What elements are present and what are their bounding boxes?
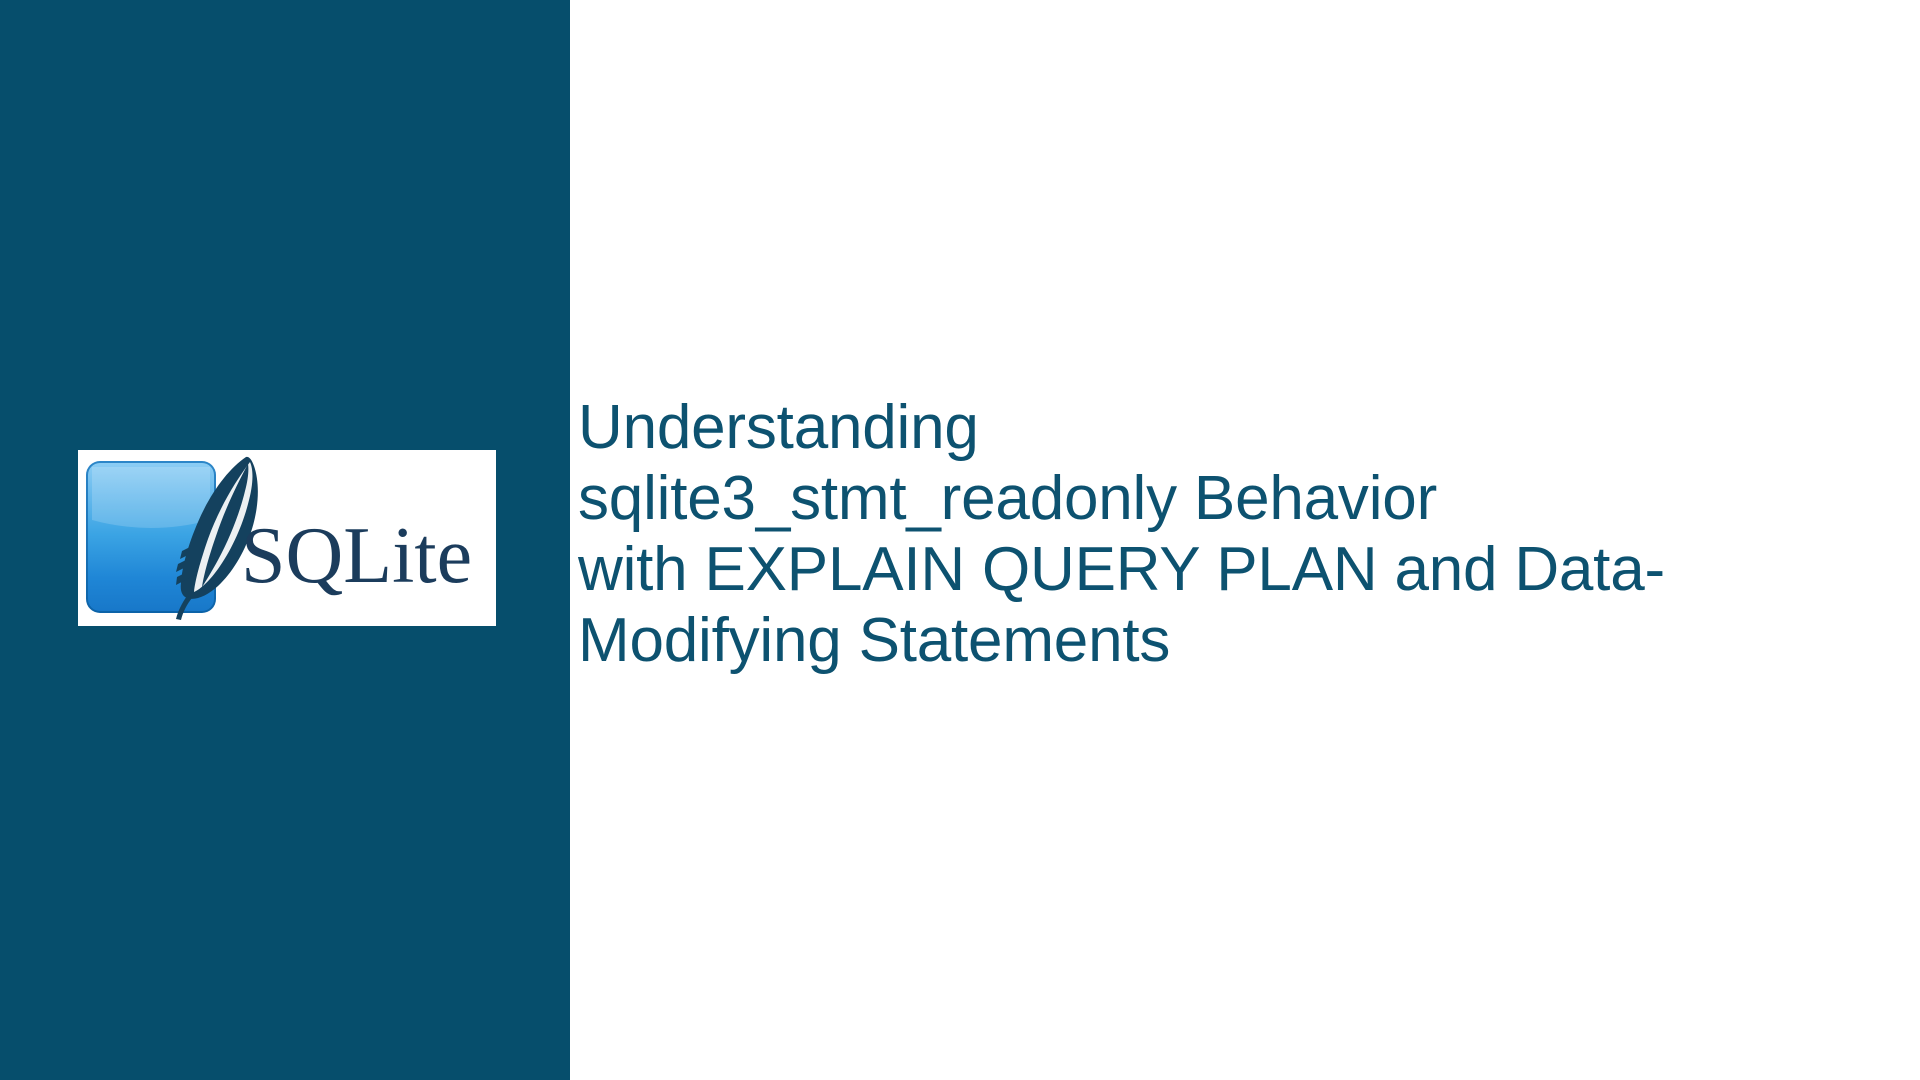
title-line-1: Understanding xyxy=(578,392,1920,463)
title-line-4: Modifying Statements xyxy=(578,605,1920,676)
logo-wordmark: SQLite xyxy=(241,512,472,600)
page-title: Understanding sqlite3_stmt_readonly Beha… xyxy=(578,392,1920,676)
title-line-3: with EXPLAIN QUERY PLAN and Data- xyxy=(578,534,1920,605)
title-slide: SQLite Understanding sqlite3_stmt_readon… xyxy=(0,0,1920,1080)
sqlite-logo: SQLite xyxy=(78,450,496,626)
title-line-2: sqlite3_stmt_readonly Behavior xyxy=(578,463,1920,534)
sqlite-logo-svg: SQLite xyxy=(78,450,496,626)
